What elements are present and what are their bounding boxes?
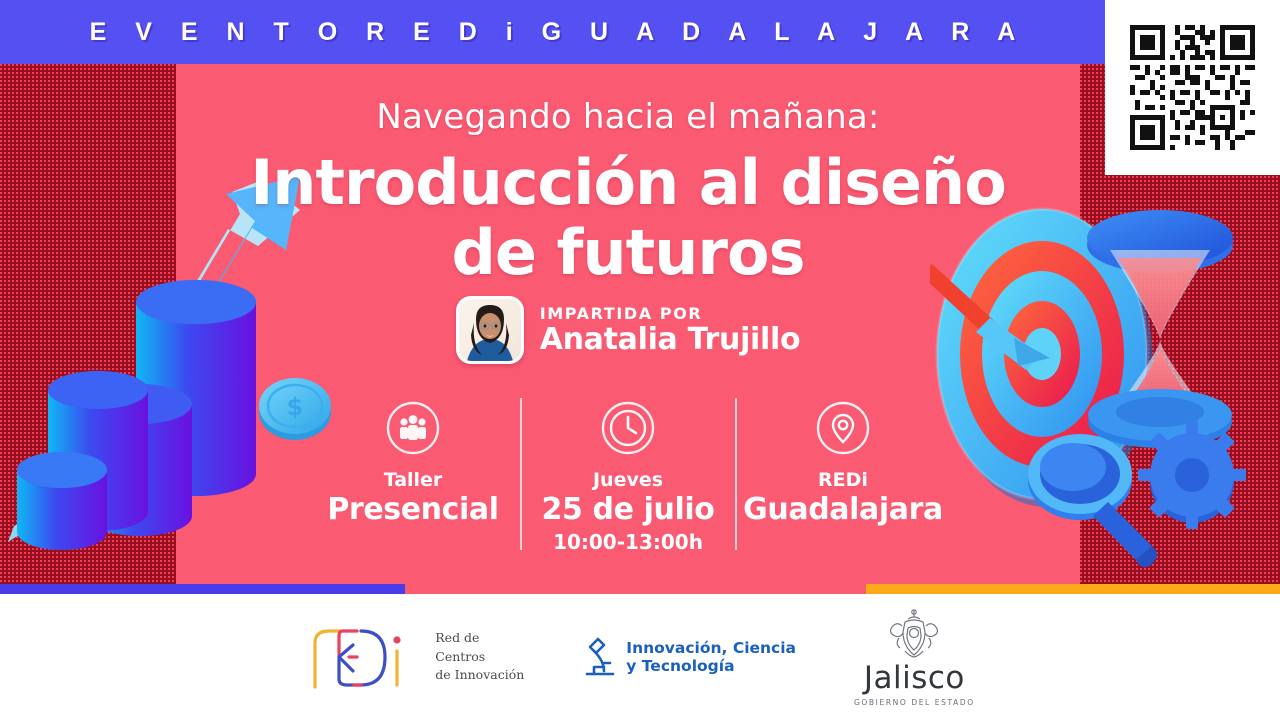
ict-logo: Innovación, Ciencia y Tecnología: [582, 634, 796, 680]
ict-logo-text: Innovación, Ciencia y Tecnología: [626, 639, 796, 676]
hero-title-line-1: Introducción al diseño: [176, 146, 1080, 219]
redi-logo-line-2: Centros: [435, 648, 524, 667]
info-row: Taller Presencial Jueves 25 de julio 1: [188, 396, 1068, 556]
jalisco-subtitle: GOBIERNO DEL ESTADO: [854, 698, 975, 707]
hero-content: Navegando hacia el mañana: Introducción …: [176, 64, 1080, 584]
event-poster: $: [0, 0, 1280, 720]
top-banner: E V E N T O R E D i G U A D A L A J A R …: [0, 0, 1105, 64]
redi-logo-line-1: Red de: [435, 629, 524, 648]
jalisco-wordmark: Jalisco: [864, 663, 965, 694]
ict-logo-line-2: y Tecnología: [626, 657, 796, 675]
info-col-location: REDi Guadalajara: [737, 396, 950, 527]
redi-logo: Red de Centros de Innovación: [305, 625, 524, 689]
halftone-panel-left: [0, 0, 176, 592]
jalisco-coat-of-arms-icon: [875, 608, 953, 662]
qr-code[interactable]: [1130, 25, 1255, 150]
location-pin-icon: [815, 400, 871, 456]
info-main-location: Guadalajara: [743, 492, 943, 527]
clock-icon: [600, 400, 656, 456]
info-col-date: Jueves 25 de julio 10:00-13:00h: [522, 396, 735, 555]
speaker-label: IMPARTIDA POR: [540, 304, 801, 323]
redi-logo-text: Red de Centros de Innovación: [435, 629, 524, 685]
info-top-modality: Taller: [384, 470, 443, 492]
speaker-block: IMPARTIDA POR Anatalia Trujillo: [176, 296, 1080, 364]
speaker-text: IMPARTIDA POR Anatalia Trujillo: [540, 304, 801, 357]
info-top-date: Jueves: [593, 470, 663, 492]
avatar-photo: [459, 299, 521, 361]
hero-stage: $: [0, 0, 1280, 592]
ict-logo-line-1: Innovación, Ciencia: [626, 639, 796, 657]
avatar: [456, 296, 524, 364]
speaker-name: Anatalia Trujillo: [540, 323, 801, 357]
qr-card[interactable]: [1105, 0, 1280, 175]
accent-rule-blue: [0, 584, 405, 594]
info-main-modality: Presencial: [327, 492, 498, 527]
info-top-location: REDi: [818, 470, 868, 492]
accent-rule-pink: [405, 584, 866, 594]
top-banner-text: E V E N T O R E D i G U A D A L A J A R …: [0, 0, 1105, 64]
hero-kicker: Navegando hacia el mañana:: [176, 97, 1080, 137]
group-people-icon: [385, 400, 441, 456]
jalisco-logo: Jalisco GOBIERNO DEL ESTADO: [854, 608, 975, 707]
accent-rule-orange: [866, 584, 1280, 594]
redi-mark-icon: [305, 625, 423, 689]
accent-rule: [0, 584, 1280, 594]
footer-logos: Red de Centros de Innovación Innovación,…: [0, 594, 1280, 720]
info-sub-time: 10:00-13:00h: [553, 529, 703, 555]
info-main-date: 25 de julio: [542, 492, 715, 527]
info-col-modality: Taller Presencial: [307, 396, 520, 527]
microscope-icon: [582, 634, 618, 680]
hero-title-line-2: de futuros: [176, 216, 1080, 289]
redi-logo-line-3: de Innovación: [435, 666, 524, 685]
